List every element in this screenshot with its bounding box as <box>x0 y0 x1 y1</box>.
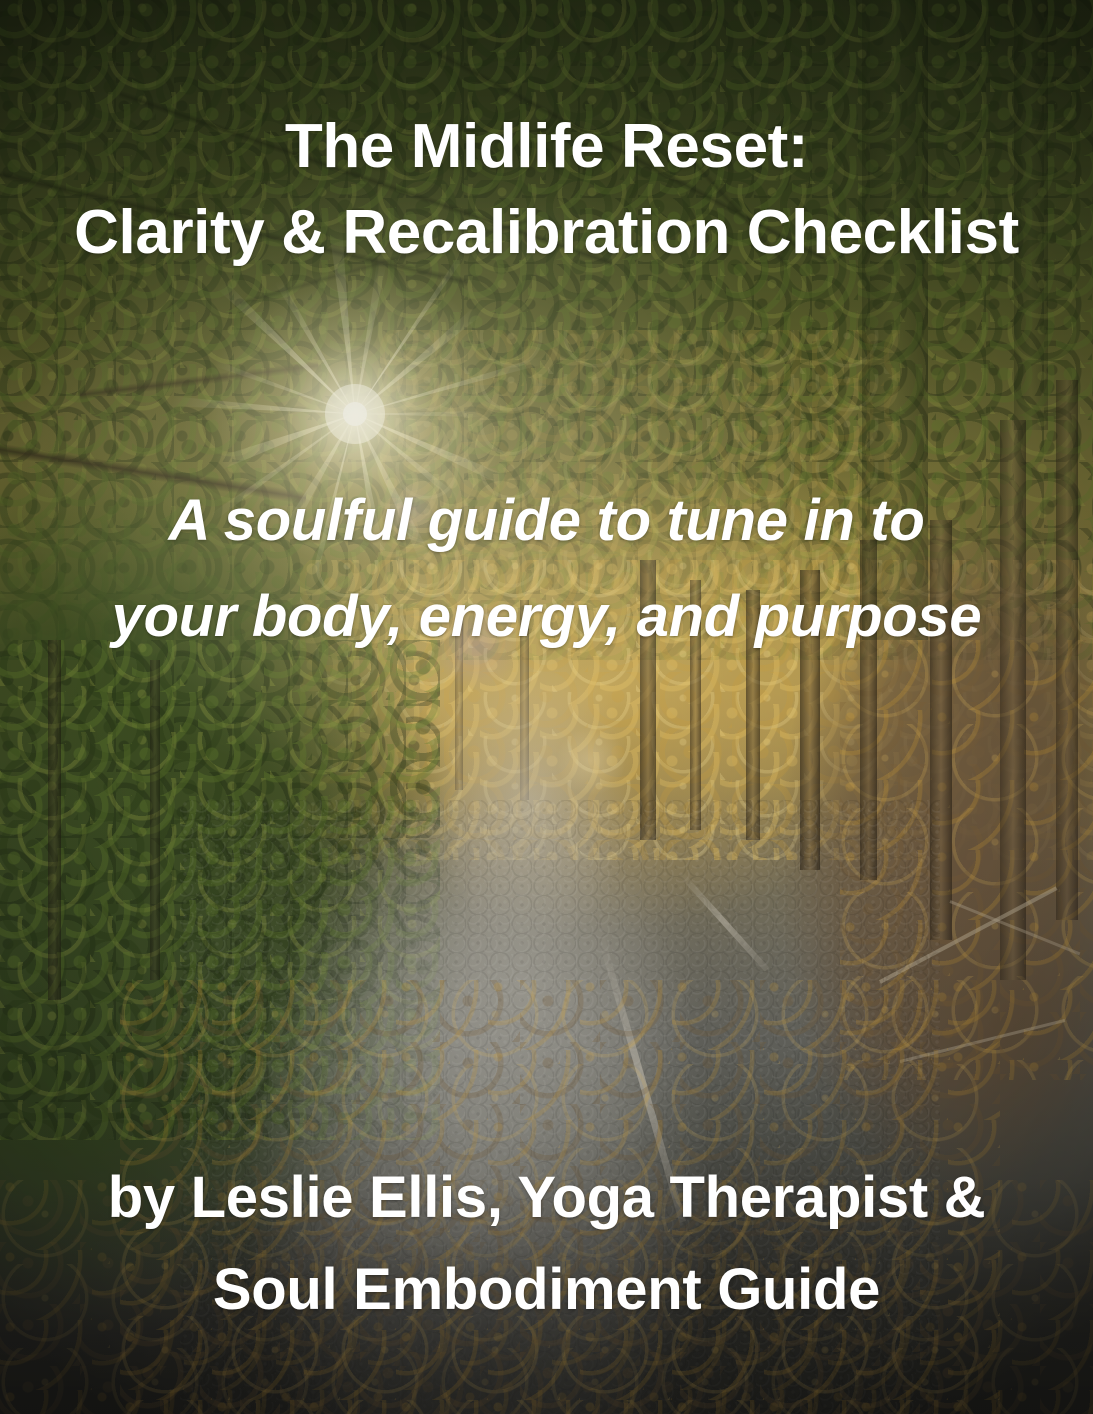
author-line-2: Soul Embodiment Guide <box>0 1244 1093 1336</box>
title-line-2: Clarity & Recalibration Checklist <box>0 190 1093 276</box>
cover-subtitle: A soulful guide to tune in to your body,… <box>0 473 1093 665</box>
subtitle-line-2: your body, energy, and purpose <box>0 569 1093 665</box>
book-cover: The Midlife Reset: Clarity & Recalibrati… <box>0 0 1093 1414</box>
cover-text-layer: The Midlife Reset: Clarity & Recalibrati… <box>0 0 1093 1414</box>
title-line-1: The Midlife Reset: <box>0 104 1093 190</box>
subtitle-line-1: A soulful guide to tune in to <box>0 473 1093 569</box>
author-line-1: by Leslie Ellis, Yoga Therapist & <box>0 1152 1093 1244</box>
cover-title: The Midlife Reset: Clarity & Recalibrati… <box>0 104 1093 276</box>
cover-author-credit: by Leslie Ellis, Yoga Therapist & Soul E… <box>0 1152 1093 1336</box>
